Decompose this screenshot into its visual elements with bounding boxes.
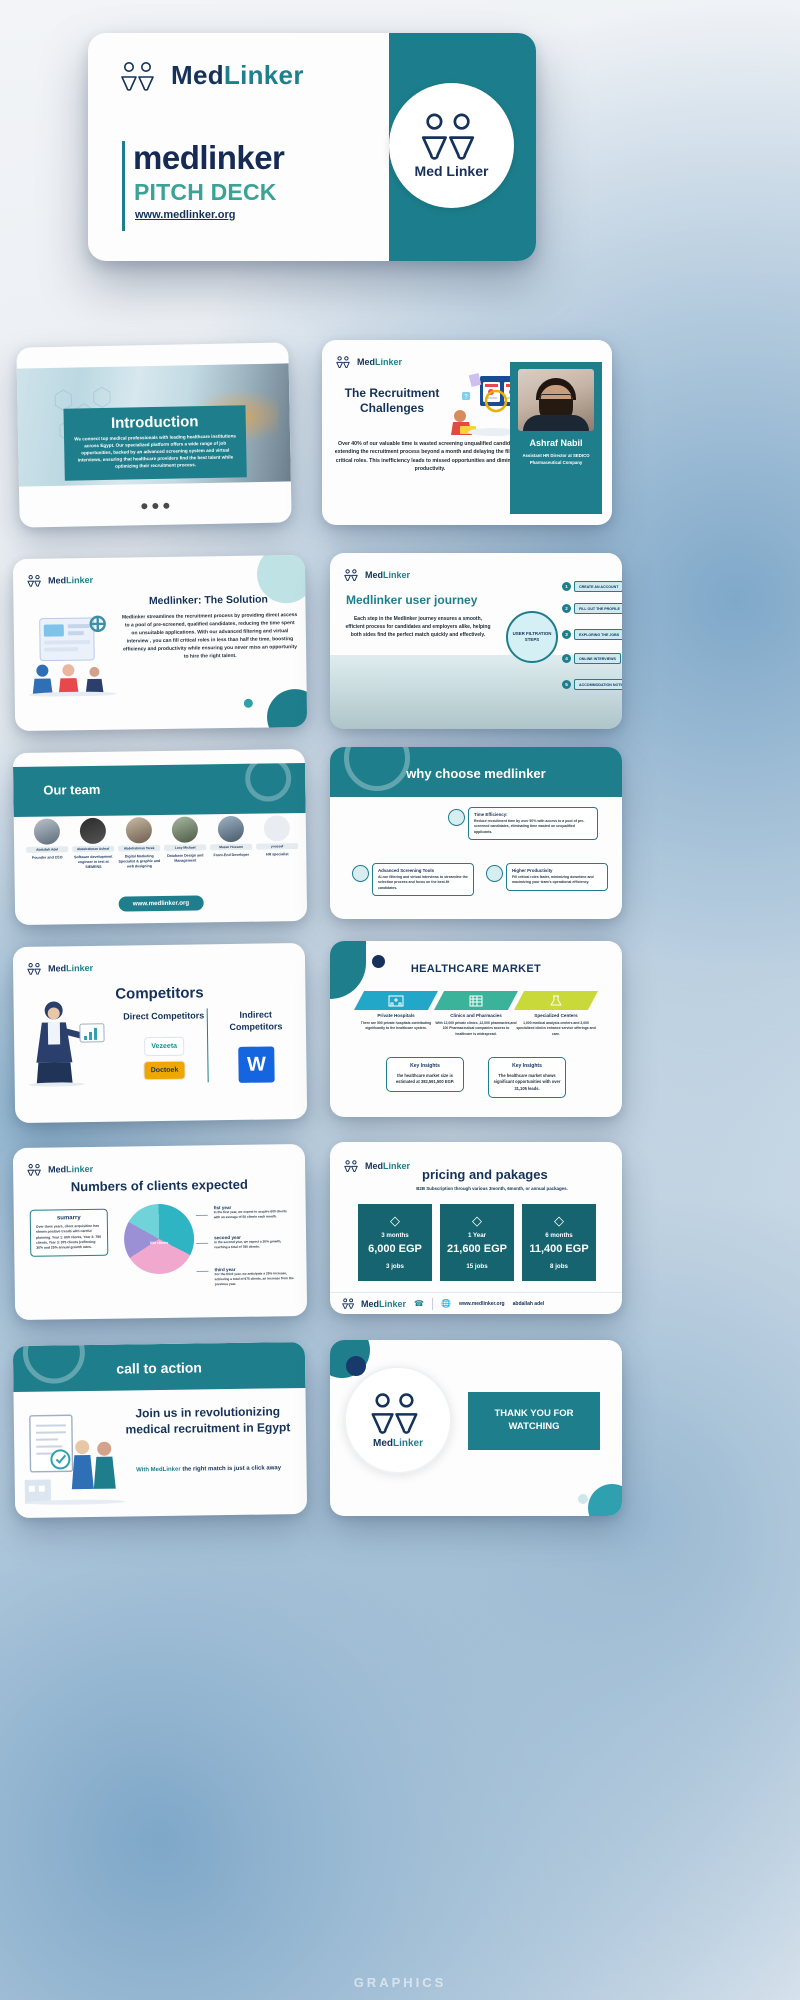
footer-separator <box>432 1298 433 1310</box>
card-heading: Advanced Screening Tools <box>378 868 468 873</box>
column-body: There are 500 private hospitals contribu… <box>354 1021 438 1032</box>
footer-brand: MedLinker <box>361 1299 406 1309</box>
market-column-private-hospitals: Private Hospitals There are 500 private … <box>354 991 438 1032</box>
market-title: HEALTHCARE MARKET <box>330 963 622 975</box>
slide-header-brand: MedLinker <box>48 1164 93 1175</box>
profile-role: Assistant HR Director at SEDICO Pharmace… <box>510 453 602 467</box>
brand-logo-row: MedLinker <box>120 60 304 91</box>
two-people-logo-icon <box>27 1164 43 1176</box>
cta-band: call to action <box>13 1342 306 1392</box>
profile-name: Ashraf Nabil <box>510 438 602 448</box>
decor-dot-light <box>578 1494 588 1504</box>
column-name: Clinics and Pharmacies <box>434 1013 518 1018</box>
journey-hub: USER FILTRATION STEPS <box>506 611 558 663</box>
slide-competitors[interactable]: MedLinker Competitors Direct Competitors… <box>13 943 307 1123</box>
phone-icon: ☎ <box>414 1299 424 1308</box>
two-people-logo-icon <box>370 1392 426 1434</box>
pricing-plan-6-months[interactable]: ◇ 6 months 11,400 EGP 8 jobs <box>522 1204 596 1281</box>
indirect-heading: Indirect Competitors <box>214 1009 298 1034</box>
decor-dot-small <box>244 699 253 708</box>
hero-url[interactable]: www.medlinker.org <box>135 209 235 221</box>
slide-dots[interactable] <box>141 503 169 510</box>
member-name: Lucy Michael <box>164 844 206 851</box>
intro-body: We connect top medical professionals wit… <box>73 432 238 471</box>
decor-ring <box>245 755 292 802</box>
slide-user-journey[interactable]: MedLinker Medlinker user journey Each st… <box>330 553 622 729</box>
avatar <box>172 816 198 842</box>
card-body: Reduce recruitment time by over 50% with… <box>474 819 592 835</box>
year-body: In the first year, we expect to acquire … <box>214 1209 294 1220</box>
two-people-logo-icon <box>344 1160 360 1172</box>
footer-website[interactable]: www.medlinker.org <box>459 1301 505 1307</box>
avatar <box>34 818 60 844</box>
hospital-icon <box>354 991 438 1010</box>
journey-step-2[interactable]: 2 FILL OUT THE PROFILE <box>562 603 622 614</box>
clock-icon <box>448 809 465 826</box>
slide-header-brand: MedLinker <box>48 575 93 586</box>
team-url-pill[interactable]: www.medlinker.org <box>119 895 204 911</box>
member-role: Founder and CEO <box>26 855 68 860</box>
member-name: Abdullah Adel <box>26 846 68 853</box>
avatar <box>218 816 244 842</box>
footer-contact: abdallah adel <box>513 1301 545 1307</box>
plan-name: 6 months <box>526 1232 592 1239</box>
why-card-time-efficiency[interactable]: Time Efficiency: Reduce recruitment time… <box>468 807 598 840</box>
team-member[interactable]: Abdelrahman Tarek Digital Marketing Spec… <box>118 817 161 869</box>
column-name: Private Hospitals <box>354 1013 438 1018</box>
two-people-logo-icon <box>336 356 352 368</box>
numbers-title: Numbers of clients expected <box>13 1176 305 1195</box>
why-card-screening-tools[interactable]: Advanced Screening Tools Al-run filterin… <box>372 863 474 896</box>
column-name: Specialized Centers <box>514 1013 598 1018</box>
thanks-message-box: THANK YOU FOR WATCHING <box>468 1392 600 1450</box>
slide-header-logo: MedLinker <box>27 1163 93 1176</box>
globe-icon: 🌐 <box>441 1299 451 1308</box>
market-key-insight-2: Key Insights The healthcare market shows… <box>488 1057 566 1098</box>
step-number: 5 <box>562 680 571 689</box>
diamond-icon: ◇ <box>362 1213 428 1229</box>
slide-introduction[interactable]: Introduction We connect top medical prof… <box>16 342 291 527</box>
plan-name: 1 Year <box>444 1232 510 1239</box>
insight-heading: Key Insights <box>493 1063 561 1069</box>
pricing-plan-3-months[interactable]: ◇ 3 months 6,000 EGP 3 jobs <box>358 1204 432 1281</box>
direct-heading: Direct Competitors <box>122 1010 206 1023</box>
why-card-productivity[interactable]: Higher Productivity Fill critical roles … <box>506 863 608 891</box>
insight-body: the healthcare market size is estimated … <box>391 1073 459 1086</box>
member-role: Front-End Developer <box>210 853 252 858</box>
team-member[interactable]: Abdullah Adel Founder and CEO <box>26 818 69 870</box>
decor-circle-aqua <box>588 1484 622 1516</box>
decor-ring <box>344 747 410 791</box>
team-member[interactable]: Lucy Michael Database Design and Managem… <box>164 816 207 868</box>
team-member[interactable]: youssef HR specialist <box>256 815 299 867</box>
slide-why-choose[interactable]: why choose medlinker Time Efficiency: Re… <box>330 747 622 919</box>
thanks-logo-circle: MedLinker <box>344 1366 452 1474</box>
slide-header-brand: MedLinker <box>365 570 410 580</box>
avatar <box>264 815 290 841</box>
member-role: HR specialist <box>256 852 298 857</box>
two-people-logo-icon <box>27 575 43 587</box>
slide-call-to-action[interactable]: call to action Join us in revolutionizin… <box>13 1342 307 1518</box>
journey-title: Medlinker user journey <box>346 593 477 607</box>
journey-photo-overlay <box>330 655 622 729</box>
slide-header-logo: MedLinker <box>27 962 93 975</box>
numbers-year-3: third year For the third year, we antici… <box>214 1266 294 1287</box>
card-heading: Time Efficiency: <box>474 812 592 817</box>
insight-heading: Key Insights <box>391 1063 459 1069</box>
team-title: Our team <box>43 782 100 798</box>
plan-price: 6,000 EGP <box>362 1243 428 1255</box>
why-band: why choose medlinker <box>330 747 622 797</box>
market-key-insight-1: Key Insights the healthcare market size … <box>386 1057 464 1092</box>
competitor-logo-vezeeta[interactable]: Vezeeta <box>144 1036 184 1056</box>
two-people-logo-icon <box>344 569 360 581</box>
productivity-icon <box>486 865 503 882</box>
cta-heading: Join us in revolutionizing medical recru… <box>122 1404 294 1438</box>
diamond-icon: ◇ <box>526 1213 592 1229</box>
plan-jobs: 3 jobs <box>362 1263 428 1270</box>
screening-icon <box>352 865 369 882</box>
two-people-logo-icon <box>420 112 484 160</box>
numbers-year-2: second year in the second year, we expec… <box>214 1234 294 1250</box>
slide-header-brand: MedLinker <box>48 963 93 974</box>
plan-price: 11,400 EGP <box>526 1243 592 1255</box>
pricing-title: pricing and pakages <box>422 1167 548 1182</box>
journey-step-4[interactable]: 4 ONLINE INTERVIEWS <box>562 653 621 664</box>
clinic-icon <box>434 991 518 1010</box>
challenges-body: Over 40% of our valuable time is wasted … <box>330 440 530 473</box>
pricing-subtitle: B2B Subscription through various 3month,… <box>392 1186 592 1193</box>
challenges-title: The Recruitment Challenges <box>336 386 448 416</box>
slide-header-brand: MedLinker <box>365 1161 410 1171</box>
member-name: Mazen Hossam <box>210 844 252 851</box>
competitor-logo-doctoek[interactable]: Doctoek <box>144 1060 186 1080</box>
decor-circle-navy <box>346 1356 366 1376</box>
market-column-clinics-pharmacies: Clinics and Pharmacies With 12,000 priva… <box>434 991 518 1037</box>
cta-subtext-rest: the right match is just a click away <box>181 1465 281 1472</box>
slide-header-logo: MedLinker <box>336 356 402 368</box>
slide-our-team[interactable]: Our team Abdullah Adel Founder and CEO A… <box>13 749 307 925</box>
numbers-summary-box: sumarry Over three years, client acquisi… <box>30 1209 109 1257</box>
member-name: Abdelrahman Tarek <box>118 845 160 852</box>
summary-heading: sumarry <box>36 1215 102 1222</box>
year-body: For the third year, we anticipate a 25% … <box>215 1271 295 1287</box>
journey-body: Each step in the Medlinker journey ensur… <box>344 615 492 639</box>
challenges-profile-card: Ashraf Nabil Assistant HR Director at SE… <box>510 362 602 514</box>
card-heading: Higher Productivity <box>512 868 602 873</box>
step-label: ACCOMMODATION NOTIFICATION <box>574 679 622 690</box>
member-name: Abdelrahman Ashraf <box>72 846 114 853</box>
hero-circle-logo: Med Linker <box>389 83 514 208</box>
competitors-divider <box>207 1008 209 1082</box>
avatar <box>80 818 106 844</box>
decor-dot-large <box>267 689 308 731</box>
card-body: Al-run filtering and virtual interviews … <box>378 875 468 891</box>
card-body: Fill critical roles faster, minimizing d… <box>512 875 602 886</box>
slide-header-logo: MedLinker <box>27 574 93 587</box>
watermark: GRAPHICS <box>0 1975 800 1990</box>
slide-numbers-of-clients[interactable]: MedLinker Numbers of clients expected su… <box>13 1144 307 1320</box>
step-number: 1 <box>562 582 571 591</box>
column-body: 1,000 medical analysis centers and 3,000… <box>514 1021 598 1037</box>
two-people-logo-icon <box>342 1298 356 1309</box>
two-people-logo-icon <box>27 963 43 975</box>
slide-header-logo: MedLinker <box>344 569 410 581</box>
plan-jobs: 8 jobs <box>526 1263 592 1270</box>
hero-slide[interactable]: MedLinker medlinker PITCH DECK www.medli… <box>88 33 536 261</box>
plan-name: 3 months <box>362 1232 428 1239</box>
plan-jobs: 15 jobs <box>444 1263 510 1270</box>
journey-step-3[interactable]: 3 EXPLORING THE JOBS <box>562 629 622 640</box>
hero-circle-label: Med Linker <box>415 163 489 179</box>
step-label: ONLINE INTERVIEWS <box>574 653 621 664</box>
team-member[interactable]: Abdelrahman Ashraf Software development … <box>72 818 115 870</box>
clients-pie-chart: 600 clients <box>124 1204 195 1275</box>
diamond-icon: ◇ <box>444 1213 510 1229</box>
hero-wordmark: medlinker <box>133 139 284 177</box>
column-body: With 12,000 private clinics ,12,000 phar… <box>434 1021 518 1037</box>
slide-pricing[interactable]: MedLinker pricing and pakages B2B Subscr… <box>330 1142 622 1314</box>
step-number: 3 <box>562 630 571 639</box>
slide-solution[interactable]: MedLinker Medlinker: The Solution Medlin… <box>13 555 307 731</box>
cta-subtext-prefix: With MedLinker <box>136 1467 181 1474</box>
thanks-brand: MedLinker <box>373 1438 423 1449</box>
hero-subtitle: PITCH DECK <box>134 179 277 206</box>
year-body: in the second year, we expect a 30% grow… <box>214 1239 294 1250</box>
competitors-direct-column: Direct Competitors Vezeeta Doctoek <box>122 1010 207 1080</box>
journey-step-5[interactable]: 5 ACCOMMODATION NOTIFICATION <box>562 679 622 690</box>
avatar <box>126 817 152 843</box>
slide-healthcare-market[interactable]: HEALTHCARE MARKET Private Hospitals Ther… <box>330 941 622 1117</box>
plan-price: 21,600 EGP <box>444 1243 510 1255</box>
member-name: youssef <box>256 843 298 850</box>
market-column-specialized-centers: Specialized Centers 1,000 medical analys… <box>514 991 598 1037</box>
two-people-logo-icon <box>120 61 160 91</box>
step-number: 2 <box>562 604 571 613</box>
slide-header-brand: MedLinker <box>357 357 402 367</box>
slide-thank-you[interactable]: MedLinker THANK YOU FOR WATCHING <box>330 1340 622 1516</box>
pricing-plans: ◇ 3 months 6,000 EGP 3 jobs ◇ 1 Year 21,… <box>358 1204 596 1281</box>
team-grid: Abdullah Adel Founder and CEO Abdelrahma… <box>26 815 299 870</box>
member-role: Database Design and Management <box>164 853 206 863</box>
pie-center-label: 600 clients <box>150 1241 168 1245</box>
pricing-footer: MedLinker ☎ 🌐 www.medlinker.org abdallah… <box>330 1292 622 1314</box>
brand-name: MedLinker <box>171 60 304 91</box>
team-band: Our team <box>13 763 306 817</box>
summary-body: Over three years, client acquisition has… <box>36 1224 102 1251</box>
step-label: FILL OUT THE PROFILE <box>574 603 622 614</box>
step-number: 4 <box>562 654 571 663</box>
member-role: Software development engineer in test at… <box>72 855 114 870</box>
intro-text-box: Introduction We connect top medical prof… <box>63 405 246 480</box>
platform-illustration-icon <box>24 608 123 697</box>
avatar <box>518 369 594 431</box>
solution-body: Medlinker streamlines the recruitment pr… <box>122 611 299 662</box>
numbers-year-1: fist year In the first year, we expect t… <box>214 1204 294 1220</box>
contract-people-illustration-icon <box>22 1398 127 1505</box>
slide-header-logo: MedLinker <box>344 1160 410 1172</box>
footer-logo: MedLinker <box>342 1298 406 1309</box>
step-label: EXPLORING THE JOBS <box>574 629 622 640</box>
slide-recruitment-challenges[interactable]: MedLinker The Recruitment Challenges Ove… <box>322 340 612 525</box>
cta-subtext: With MedLinker the right match is just a… <box>129 1464 289 1475</box>
competitor-logo-w[interactable]: W <box>238 1047 274 1083</box>
competitors-indirect-column: Indirect Competitors W <box>214 1009 299 1084</box>
solution-title: Medlinker: The Solution <box>123 593 293 607</box>
pricing-plan-1-year[interactable]: ◇ 1 Year 21,600 EGP 15 jobs <box>440 1204 514 1281</box>
lab-icon <box>514 991 598 1010</box>
member-role: Digital Marketing Specialist & graphic a… <box>118 854 160 869</box>
team-member[interactable]: Mazen Hossam Front-End Developer <box>210 816 253 868</box>
businessman-illustration-icon <box>23 994 110 1087</box>
step-label: CREATE AN ACCOUNT <box>574 581 622 592</box>
intro-title: Introduction <box>73 412 237 432</box>
journey-step-1[interactable]: 1 CREATE AN ACCOUNT <box>562 581 622 592</box>
hero-accent-bar <box>122 141 125 231</box>
insight-body: The healthcare market shows significant … <box>493 1073 561 1092</box>
